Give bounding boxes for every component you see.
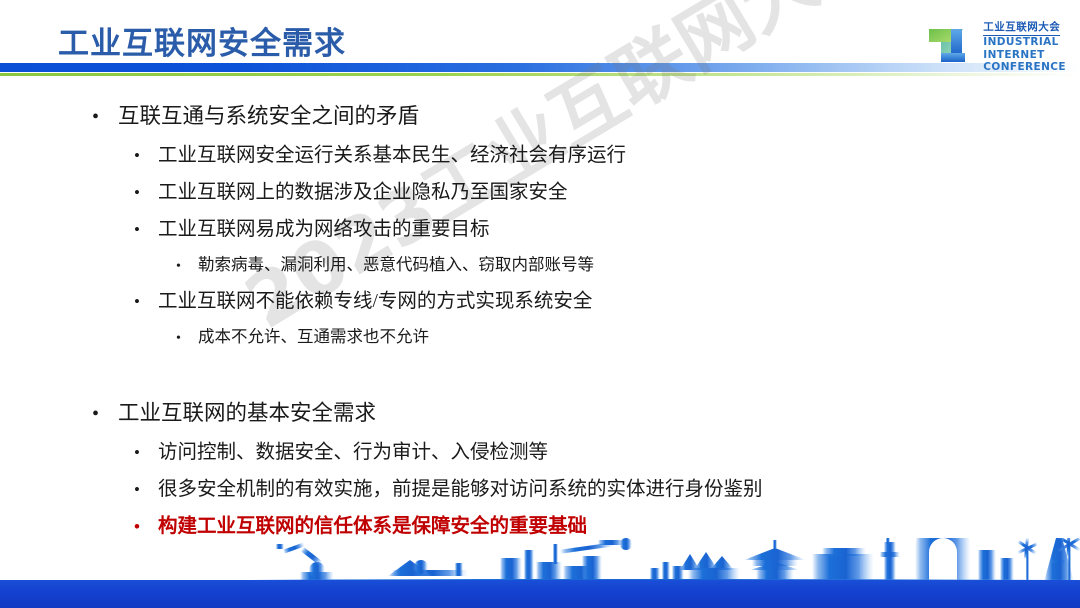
bullet-marker-icon: • <box>134 434 158 471</box>
bullet-marker-icon: • <box>134 283 158 320</box>
bullet-item-l2: •很多安全机制的有效实施，前提是能够对访问系统的实体进行身份鉴别 <box>0 471 1080 508</box>
bullet-text: 工业互联网易成为网络攻击的重要目标 <box>158 211 490 248</box>
slide-footer <box>0 538 1080 608</box>
bullet-item-l2: •访问控制、数据安全、行为审计、入侵检测等 <box>0 434 1080 471</box>
bullet-text: 勒索病毒、漏洞利用、恶意代码植入、窃取内部账号等 <box>198 248 594 281</box>
bullet-text: 访问控制、数据安全、行为审计、入侵检测等 <box>158 434 548 471</box>
footer-blue-band <box>0 580 1080 608</box>
bullet-text: 成本不允许、互通需求也不允许 <box>198 320 429 353</box>
bullet-marker-icon: • <box>176 322 198 355</box>
bullet-spacer <box>0 355 1080 393</box>
bullet-item-l2: •工业互联网安全运行关系基本民生、经济社会有序运行 <box>0 137 1080 174</box>
bullet-marker-icon: • <box>92 394 118 434</box>
logo-line-internet: INTERNET <box>983 50 1066 62</box>
bullet-item-l1: •工业互联网的基本安全需求 <box>0 393 1080 434</box>
logo-line-industrial: INDUSTRIAL <box>983 37 1066 49</box>
bullet-item-l3: •成本不允许、互通需求也不允许 <box>0 320 1080 355</box>
conference-logo: 工业互联网大会 INDUSTRIAL INTERNET CONFERENCE <box>927 16 1066 74</box>
slide-body: •互联互通与系统安全之间的矛盾•工业互联网安全运行关系基本民生、经济社会有序运行… <box>0 96 1080 545</box>
logo-title-cn: 工业互联网大会 <box>983 22 1060 36</box>
bullet-item-l2: •工业互联网上的数据涉及企业隐私乃至国家安全 <box>0 174 1080 211</box>
header-rule-green <box>0 73 1080 76</box>
logo-mark-icon <box>927 20 977 70</box>
bullet-marker-icon: • <box>134 211 158 248</box>
logo-line-conference: CONFERENCE <box>983 62 1066 74</box>
bullet-text: 工业互联网的基本安全需求 <box>118 393 376 433</box>
bullet-item-l3: •勒索病毒、漏洞利用、恶意代码植入、窃取内部账号等 <box>0 248 1080 283</box>
bullet-text: 工业互联网不能依赖专线/专网的方式实现系统安全 <box>158 283 592 320</box>
bullet-marker-icon: • <box>134 471 158 508</box>
bullet-text: 工业互联网安全运行关系基本民生、经济社会有序运行 <box>158 137 626 174</box>
bullet-item-l1: •互联互通与系统安全之间的矛盾 <box>0 96 1080 137</box>
bullet-item-l2: •工业互联网易成为网络攻击的重要目标 <box>0 211 1080 248</box>
presentation-slide: 工业互联网安全需求 <box>0 0 1080 608</box>
bullet-marker-icon: • <box>92 97 118 137</box>
logo-text: 工业互联网大会 INDUSTRIAL INTERNET CONFERENCE <box>983 16 1066 74</box>
page-title: 工业互联网安全需求 <box>58 18 346 63</box>
header-rule-blue <box>0 63 1080 72</box>
bullet-text: 很多安全机制的有效实施，前提是能够对访问系统的实体进行身份鉴别 <box>158 471 763 508</box>
bullet-item-l2: •工业互联网不能依赖专线/专网的方式实现系统安全 <box>0 283 1080 320</box>
skyline-illustration-icon <box>0 538 1080 582</box>
bullet-text: 工业互联网上的数据涉及企业隐私乃至国家安全 <box>158 174 568 211</box>
bullet-marker-icon: • <box>134 137 158 174</box>
bullet-marker-icon: • <box>134 174 158 211</box>
bullet-marker-icon: • <box>176 250 198 283</box>
bullet-text: 互联互通与系统安全之间的矛盾 <box>118 96 419 136</box>
